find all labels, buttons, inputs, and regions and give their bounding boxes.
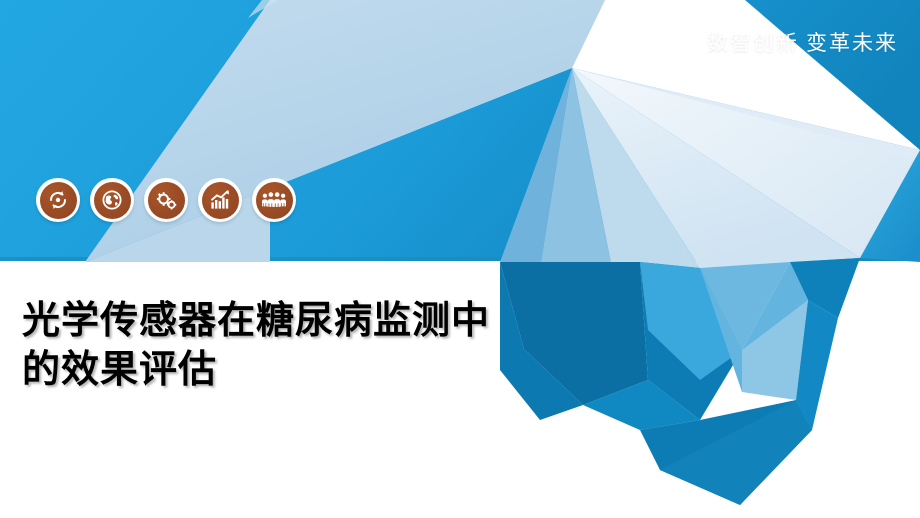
icon-badge-gears[interactable] <box>144 178 188 222</box>
page-title: 光学传感器在糖尿病监测中 的效果评估 <box>22 296 542 395</box>
tagline-text: 数智创新 变革未来 <box>707 27 898 57</box>
people-group-icon <box>256 182 293 219</box>
icon-badge-globe[interactable] <box>90 178 134 222</box>
icon-badge-recycle[interactable] <box>36 178 80 222</box>
icon-badge-people[interactable] <box>252 178 296 222</box>
icon-strip <box>36 178 296 222</box>
gears-icon <box>148 182 185 219</box>
recycle-arrows-icon <box>40 182 77 219</box>
slide-canvas: 数智创新 变革未来 <box>0 0 920 518</box>
globe-icon <box>94 182 131 219</box>
bar-chart-icon <box>202 182 239 219</box>
low-poly-background-artwork <box>0 0 920 518</box>
title-block: 光学传感器在糖尿病监测中 的效果评估 <box>22 296 542 395</box>
icon-badge-bar-chart[interactable] <box>198 178 242 222</box>
